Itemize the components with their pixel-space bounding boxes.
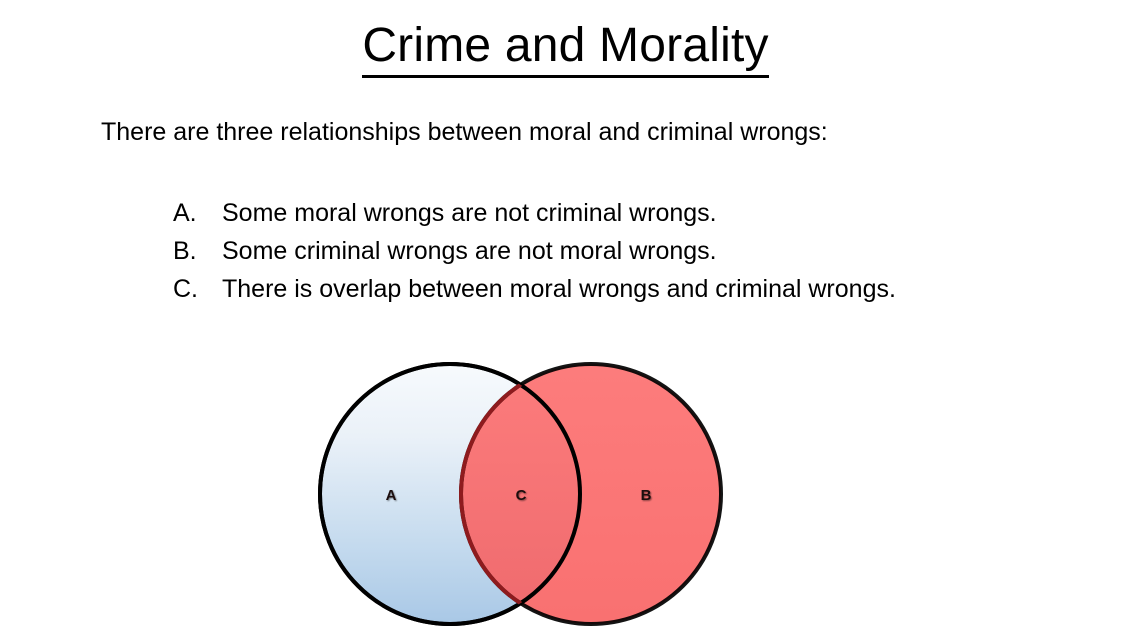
venn-diagram-svg: A C B <box>300 348 740 636</box>
venn-label-c: C <box>516 487 527 504</box>
list-item: C. There is overlap between moral wrongs… <box>173 270 1073 308</box>
venn-diagram: A C B <box>300 348 740 636</box>
list-item-marker: C. <box>173 270 222 308</box>
venn-label-a: A <box>386 487 397 504</box>
slide-canvas: Crime and Morality There are three relat… <box>0 0 1131 636</box>
page-title-text: Crime and Morality <box>362 18 768 78</box>
list-item-text: There is overlap between moral wrongs an… <box>222 270 896 308</box>
list-item-marker: B. <box>173 232 222 270</box>
list-item: B. Some criminal wrongs are not moral wr… <box>173 232 1073 270</box>
venn-label-b: B <box>641 487 652 504</box>
relationship-list: A. Some moral wrongs are not criminal wr… <box>173 194 1073 308</box>
list-item-text: Some criminal wrongs are not moral wrong… <box>222 232 717 270</box>
list-item-marker: A. <box>173 194 222 232</box>
list-item-text: Some moral wrongs are not criminal wrong… <box>222 194 717 232</box>
intro-paragraph: There are three relationships between mo… <box>101 117 828 148</box>
page-title: Crime and Morality <box>0 18 1131 78</box>
list-item: A. Some moral wrongs are not criminal wr… <box>173 194 1073 232</box>
